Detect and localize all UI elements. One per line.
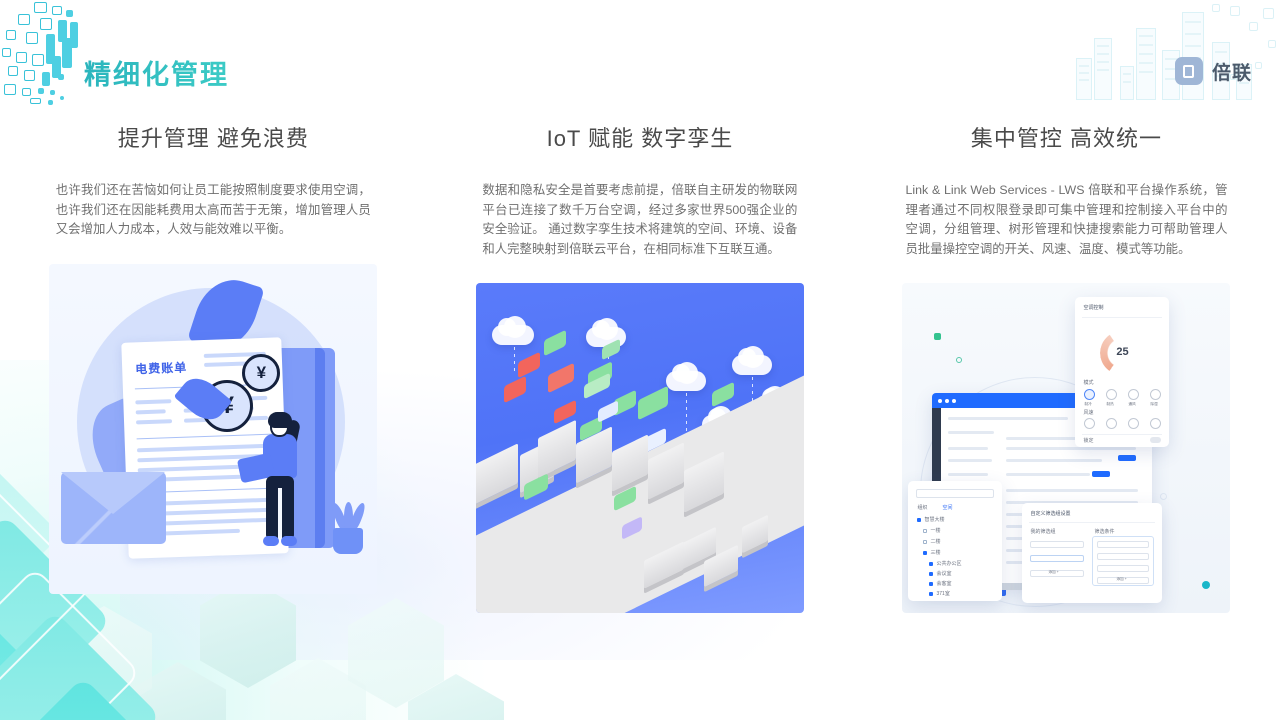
column-1-body: 也许我们还在苦恼如何让员工能按照制度要求使用空调，也许我们还在因能耗费用太高而苦…	[56, 181, 371, 240]
brand-logo: 倍联	[1175, 57, 1252, 85]
temperature-value: 25	[1075, 346, 1169, 358]
envelope-icon	[61, 472, 166, 544]
tile-red-b	[504, 376, 526, 404]
fan-auto-icon[interactable]	[1084, 418, 1095, 429]
tile-green-a	[544, 330, 566, 357]
cloud-node-doc	[666, 371, 706, 391]
potted-plant-icon	[331, 500, 365, 554]
fan-low-icon[interactable]	[1106, 418, 1117, 429]
mode-name-3: 除湿	[1150, 402, 1157, 407]
city-skyline-pattern	[980, 0, 1280, 100]
cloud-node-clock	[492, 325, 534, 345]
brand-name: 倍联	[1212, 58, 1252, 85]
tile-red-a	[518, 352, 540, 379]
decor-dot-green-outline	[956, 357, 962, 363]
column-2-body: 数据和隐私安全是首要考虑前提，倍联自主研发的物联网平台已连接了数千万台空调，经过…	[482, 181, 797, 259]
tree-item-5[interactable]: 会议室	[936, 570, 951, 577]
tree-item-7[interactable]: 371室	[936, 590, 949, 597]
lock-toggle[interactable]	[1150, 437, 1161, 443]
filter-col-right-label: 筛选条件	[1094, 528, 1114, 535]
fan-label: 风速	[1083, 409, 1093, 416]
tree-item-2[interactable]: 二楼	[930, 538, 940, 545]
person-figure	[255, 412, 307, 552]
cloud-node-user	[732, 355, 772, 375]
room-block-1	[476, 444, 518, 507]
three-column-content: 提升管理 避免浪费 也许我们还在苦恼如何让员工能按照制度要求使用空调，也许我们还…	[0, 110, 1280, 613]
tree-search-select[interactable]	[916, 489, 994, 498]
tree-item-1[interactable]: 一楼	[930, 527, 940, 534]
rounded-square-logo-icon	[1175, 57, 1203, 85]
decor-circle-tiny-c	[1160, 493, 1167, 500]
fan-mid-icon[interactable]	[1128, 418, 1139, 429]
ac-panel-title: 空调控制	[1083, 304, 1103, 311]
column-centralized-control: 集中管控 高效统一 Link & Link Web Services - LWS…	[853, 110, 1280, 613]
fan-high-icon[interactable]	[1150, 418, 1161, 429]
digital-twin-isometric-illustration	[476, 283, 804, 613]
column-1-heading: 提升管理 避免浪费	[118, 121, 309, 153]
mode-label: 模式	[1083, 379, 1093, 386]
column-improve-management: 提升管理 避免浪费 也许我们还在苦恼如何让员工能按照制度要求使用空调，也许我们还…	[0, 110, 427, 613]
bill-title: 电费账单	[135, 358, 188, 377]
coin-small: ¥	[242, 354, 280, 392]
page-title: 精细化管理	[84, 53, 229, 92]
column-3-heading: 集中管控 高效统一	[971, 121, 1162, 153]
lock-label: 锁定	[1083, 437, 1093, 444]
tile-red-c	[548, 363, 574, 394]
filter-col-left-label: 我的筛选组	[1030, 528, 1055, 535]
mode-name-1: 制热	[1106, 402, 1113, 407]
filter-panel-title: 自定义筛选组设置	[1030, 510, 1070, 517]
tree-tab-org[interactable]: 组织	[917, 504, 927, 511]
decor-dot-cyan	[1202, 581, 1210, 589]
tree-item-3[interactable]: 三楼	[930, 549, 940, 556]
mode-name-2: 通风	[1128, 402, 1135, 407]
column-2-heading: IoT 赋能 数字孪生	[547, 121, 734, 153]
custom-filter-panel: 自定义筛选组设置 我的筛选组 筛选条件 添加 + 添加 +	[1022, 503, 1162, 603]
tile-green-e	[638, 386, 668, 421]
mode-cool-icon[interactable]	[1084, 389, 1095, 400]
mode-heat-icon[interactable]	[1106, 389, 1117, 400]
electricity-bill-illustration: 电费账单 ¥ ¥	[49, 264, 377, 594]
tree-item-0[interactable]: 智慧大楼	[924, 516, 944, 523]
column-iot-digital-twin: IoT 赋能 数字孪生 数据和隐私安全是首要考虑前提，倍联自主研发的物联网平台已…	[427, 110, 854, 613]
mode-fan-icon[interactable]	[1128, 389, 1139, 400]
space-tree-panel: 组织 空间 智慧大楼 一楼 二楼 三楼 公共办公区 会议室 会客室 371室	[908, 481, 1002, 601]
platform-dashboard-illustration: 空调控制 25 模式 制冷 制热 通风 除湿 风速 锁定	[902, 283, 1230, 613]
tree-item-6[interactable]: 会客室	[936, 580, 951, 587]
tree-tab-space[interactable]: 空间	[942, 504, 952, 511]
mode-dry-icon[interactable]	[1150, 389, 1161, 400]
filter-add-left[interactable]: 添加 +	[1048, 570, 1058, 575]
tile-blue-c	[598, 400, 618, 423]
room-block-3	[538, 420, 576, 479]
decor-dot-green	[934, 333, 941, 340]
column-3-body: Link & Link Web Services - LWS 倍联和平台操作系统…	[905, 181, 1227, 259]
mode-name-0: 制冷	[1084, 402, 1091, 407]
ac-control-panel: 空调控制 25 模式 制冷 制热 通风 除湿 风速 锁定	[1075, 297, 1169, 447]
tree-item-4[interactable]: 公共办公区	[936, 560, 961, 567]
filter-add-right[interactable]: 添加 +	[1116, 577, 1126, 582]
tile-green-g	[712, 382, 734, 408]
